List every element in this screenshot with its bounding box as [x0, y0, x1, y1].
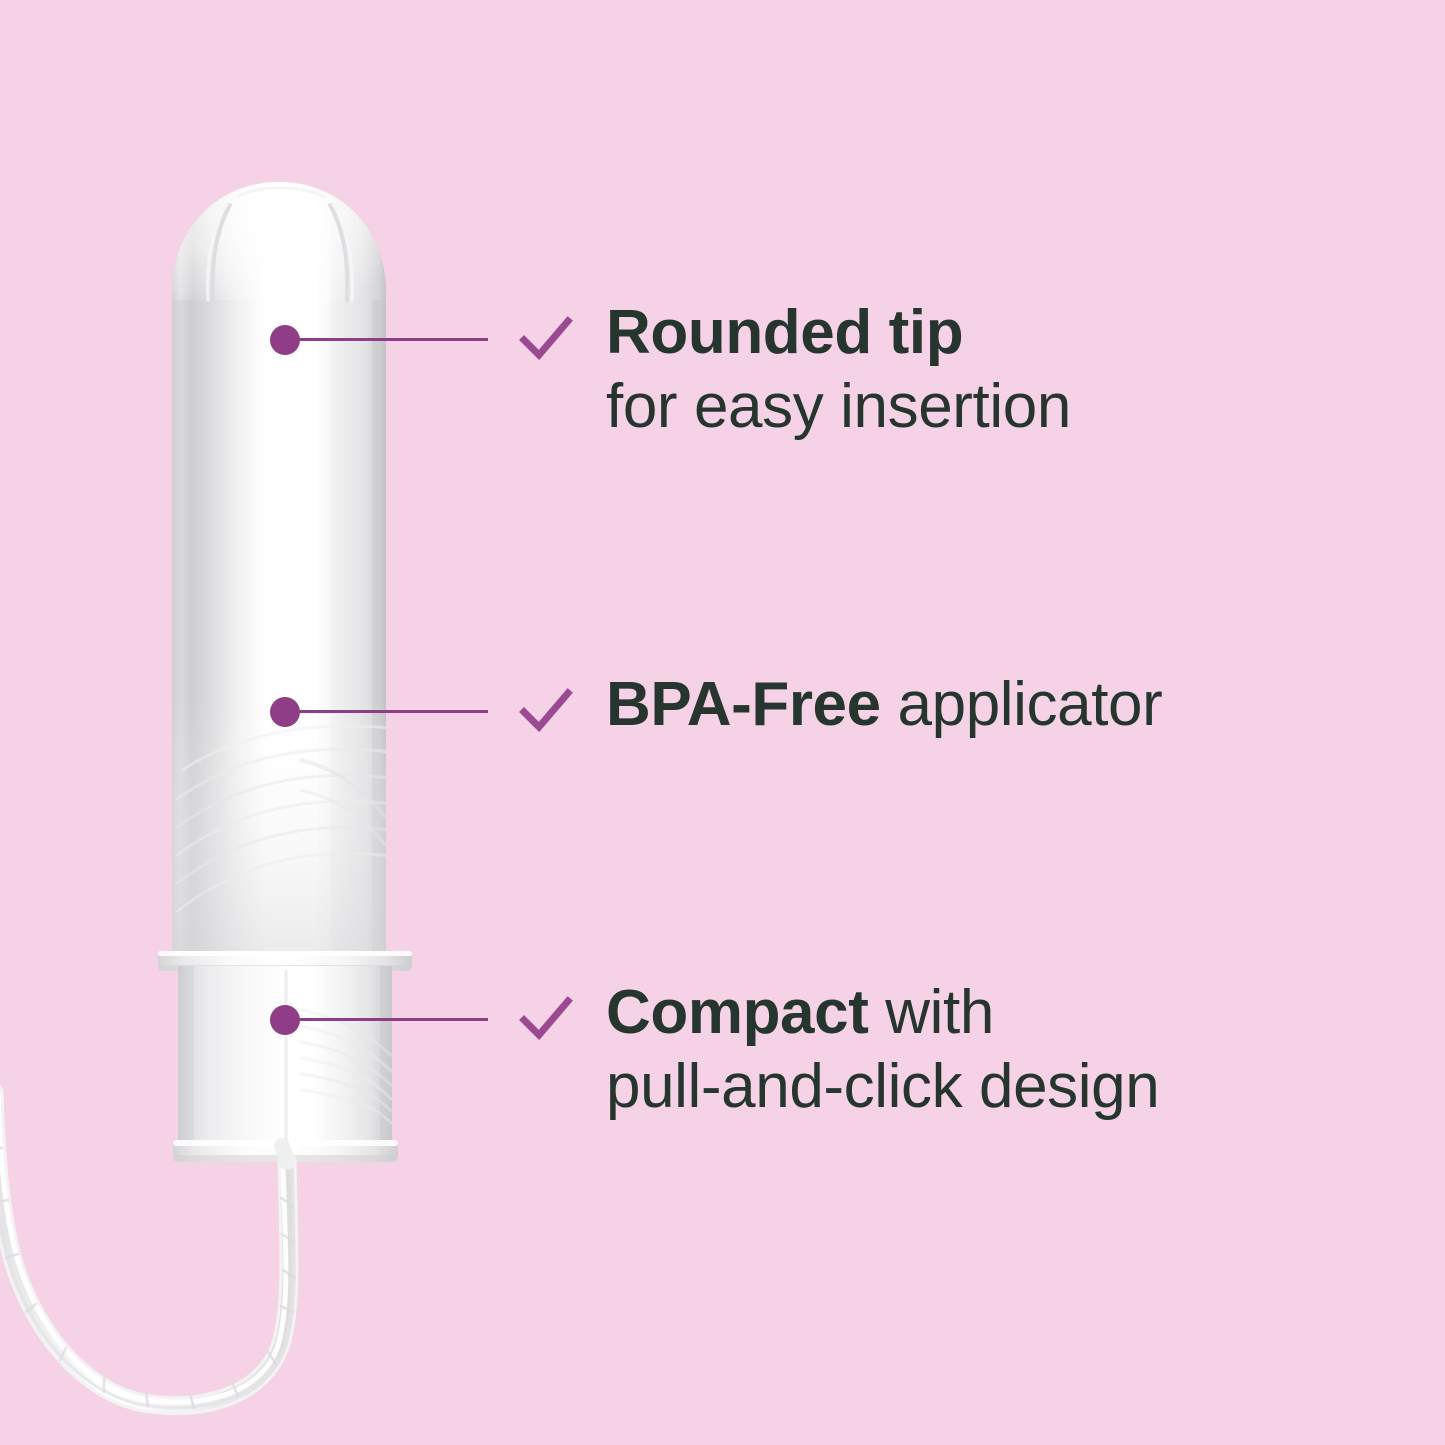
leader-line-icon	[294, 338, 488, 341]
callout-list: Rounded tip for easy insertion BPA-Free …	[0, 0, 1445, 1445]
leader-line-icon	[294, 710, 488, 713]
leader-line-icon	[294, 1018, 488, 1021]
callout-rest-text: with	[868, 978, 993, 1047]
callout-text-bpa-free: BPA-Free applicator	[606, 668, 1162, 742]
callout-second-line: pull-and-click design	[606, 1050, 1159, 1124]
callout-rest-text: applicator	[881, 670, 1163, 739]
callout-bold-text: Compact	[606, 978, 868, 1047]
infographic-canvas: Rounded tip for easy insertion BPA-Free …	[0, 0, 1445, 1445]
callout-bold-text: Rounded tip	[606, 298, 963, 367]
check-icon	[518, 310, 574, 366]
callout-text-rounded-tip: Rounded tip for easy insertion	[606, 296, 1071, 445]
check-icon	[518, 990, 574, 1046]
check-icon	[518, 682, 574, 738]
callout-text-compact: Compact with pull-and-click design	[606, 976, 1159, 1125]
callout-bold-text: BPA-Free	[606, 670, 881, 739]
callout-second-line: for easy insertion	[606, 370, 1071, 444]
